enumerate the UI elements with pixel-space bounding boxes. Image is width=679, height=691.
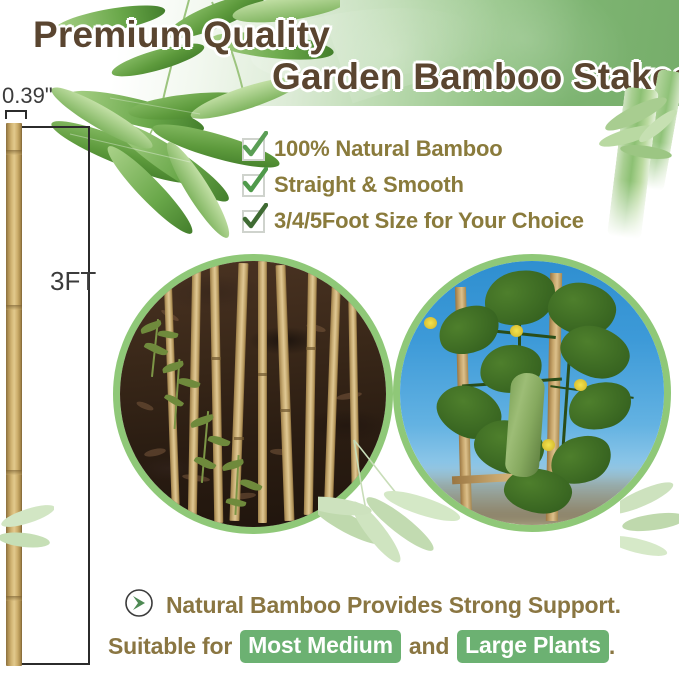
pale-bamboo-leaves-decor xyxy=(318,436,468,586)
circled-arrow-right-icon xyxy=(124,588,154,623)
feature-item: 100% Natural Bamboo xyxy=(242,132,662,166)
feature-list: 100% Natural Bamboo Straight & Smooth 3/… xyxy=(242,132,662,240)
cucumber-fruit xyxy=(504,372,545,478)
feature-item: 3/4/5Foot Size for Your Choice xyxy=(242,204,662,238)
feature-item: Straight & Smooth xyxy=(242,168,662,202)
footer-line-2-middle: and xyxy=(409,633,449,660)
page-title-line-1: Premium Quality xyxy=(33,14,330,56)
footer-line-2-prefix: Suitable for xyxy=(108,633,232,660)
height-dimension-line xyxy=(88,126,90,665)
checkbox-check-icon xyxy=(242,210,265,233)
footer-line-1: Natural Bamboo Provides Strong Support. xyxy=(124,588,621,623)
stake-node xyxy=(6,596,22,601)
product-infographic: Premium Quality Garden Bamboo Stakes 0.3… xyxy=(0,0,679,691)
feature-item-label: 3/4/5Foot Size for Your Choice xyxy=(274,208,584,234)
highlight-large-plants: Large Plants xyxy=(457,630,609,663)
footer-line-1-text: Natural Bamboo Provides Strong Support. xyxy=(166,592,621,619)
footer-line-2: Suitable for Most Medium and Large Plant… xyxy=(108,630,615,663)
width-dimension-label: 0.39" xyxy=(2,83,53,109)
stake-node xyxy=(6,470,22,475)
feature-item-label: 100% Natural Bamboo xyxy=(274,136,503,162)
checkbox-check-icon xyxy=(242,174,265,197)
pale-bamboo-leaves-decor xyxy=(620,470,679,580)
height-dimension-tick-bottom xyxy=(22,663,90,665)
height-dimension-tick-top xyxy=(22,126,90,128)
pale-bamboo-leaves-decor xyxy=(0,492,54,582)
bamboo-stake-product-image xyxy=(6,123,22,666)
checkbox-check-icon xyxy=(242,138,265,161)
width-dimension-bracket xyxy=(5,110,27,119)
highlight-most-medium: Most Medium xyxy=(240,630,401,663)
page-title-line-2: Garden Bamboo Stakes xyxy=(272,56,679,98)
feature-item-label: Straight & Smooth xyxy=(274,172,464,198)
stake-node xyxy=(6,150,22,155)
height-dimension-label: 3FT xyxy=(50,266,96,297)
stake-node xyxy=(6,305,22,310)
footer-line-2-suffix: . xyxy=(609,633,615,660)
